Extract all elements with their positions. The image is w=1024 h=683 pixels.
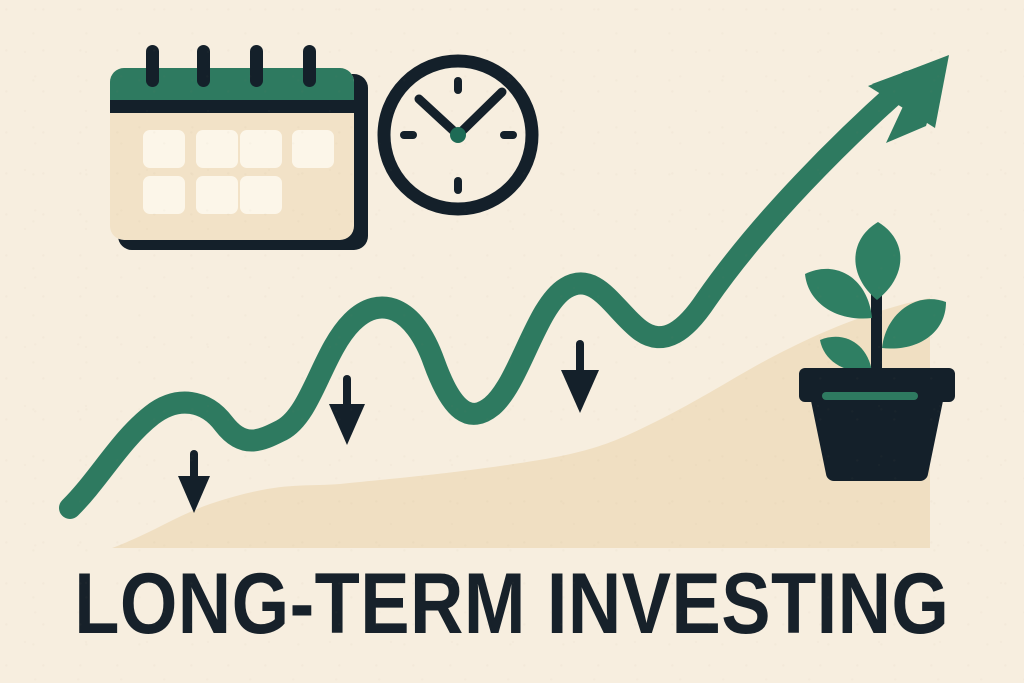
calendar-ring (146, 45, 159, 87)
plant-pot-body (810, 396, 944, 481)
calendar-day-cell (240, 176, 282, 214)
plant-pot-accent-line (822, 392, 918, 400)
illustration-svg (0, 0, 1024, 683)
clock-tick-3 (500, 131, 517, 139)
poster-canvas: LONG-TERM INVESTING (0, 0, 1024, 683)
calendar-day-cell (292, 130, 334, 168)
calendar-day-cell (240, 130, 282, 168)
clock-tick-9 (400, 131, 417, 139)
calendar-ring (250, 45, 263, 87)
calendar-icon (110, 45, 368, 250)
clock-tick-6 (454, 177, 462, 194)
clock-tick-12 (454, 77, 462, 94)
calendar-ring (197, 45, 210, 87)
clock-icon (384, 61, 532, 209)
calendar-day-cell (196, 130, 238, 168)
calendar-divider (110, 100, 354, 113)
calendar-ring (303, 45, 316, 87)
calendar-day-cell (143, 176, 185, 214)
calendar-day-cell (196, 176, 238, 214)
calendar-day-cell (143, 130, 185, 168)
clock-center-dot (450, 127, 466, 143)
